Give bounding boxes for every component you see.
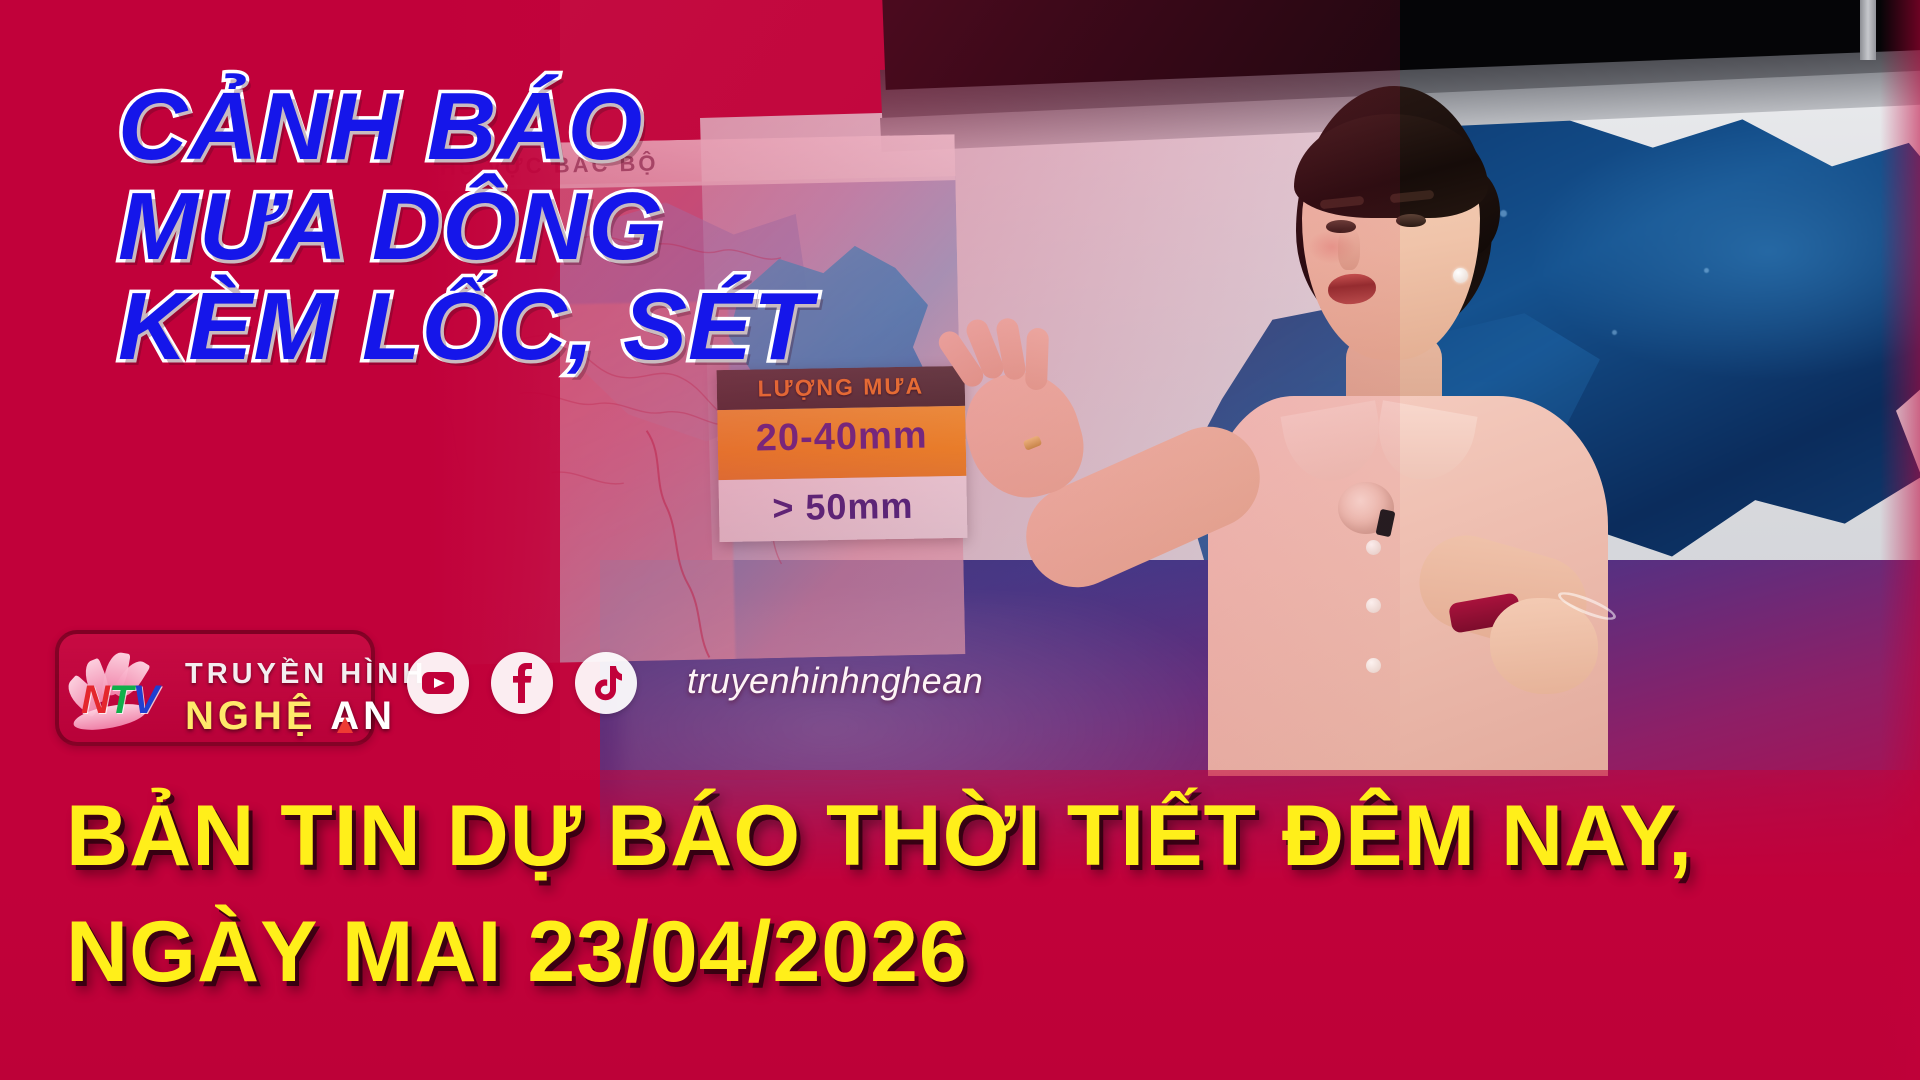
youtube-glyph: [421, 671, 455, 695]
brand-line-2b: AN: [330, 694, 396, 738]
tiktok-icon[interactable]: [575, 652, 637, 714]
brand-line-2: NGHỆ AN: [185, 694, 396, 739]
headline-warning: CẢNH BÁO MƯA DÔNG KÈM LỐC, SÉT: [118, 78, 1168, 378]
studio-pillar: [1860, 0, 1876, 60]
tiktok-glyph: [590, 665, 622, 701]
broadcast-thumbnail: KHU VỰC BẮC BỘ LƯỢNG MƯA 20-40mm > 50mm: [0, 0, 1920, 1080]
social-icon-group: [407, 652, 667, 724]
youtube-icon[interactable]: [407, 652, 469, 714]
headline-line-1: CẢNH BÁO: [118, 78, 1168, 176]
ntv-wordmark: NTV: [81, 680, 158, 720]
subtitle-line-1: BẢN TIN DỰ BÁO THỜI TIẾT ĐÊM NAY,: [66, 780, 1906, 892]
headline-line-2: MƯA DÔNG: [118, 178, 1168, 276]
sea-speck: [1704, 268, 1709, 273]
facebook-glyph: [509, 663, 535, 703]
subtitle-line-2: NGÀY MAI 23/04/2026: [66, 896, 1906, 1008]
bulletin-subtitle: BẢN TIN DỰ BÁO THỜI TIẾT ĐÊM NAY, NGÀY M…: [66, 780, 1906, 1008]
headline-line-3: KÈM LỐC, SÉT: [118, 278, 1168, 376]
social-handle: truyenhinhnghean: [687, 660, 983, 702]
facebook-icon[interactable]: [491, 652, 553, 714]
brand-line-2a: NGHỆ: [185, 694, 317, 738]
presenter-earring: [1453, 268, 1468, 283]
brand-bar: NTV TRUYỀN HÌNH NGHỆ AN: [55, 626, 1015, 752]
ntv-logo-plate: NTV TRUYỀN HÌNH NGHỆ AN: [55, 630, 375, 746]
presenter-eye: [1396, 214, 1426, 227]
brand-line-1: TRUYỀN HÌNH: [185, 658, 427, 691]
